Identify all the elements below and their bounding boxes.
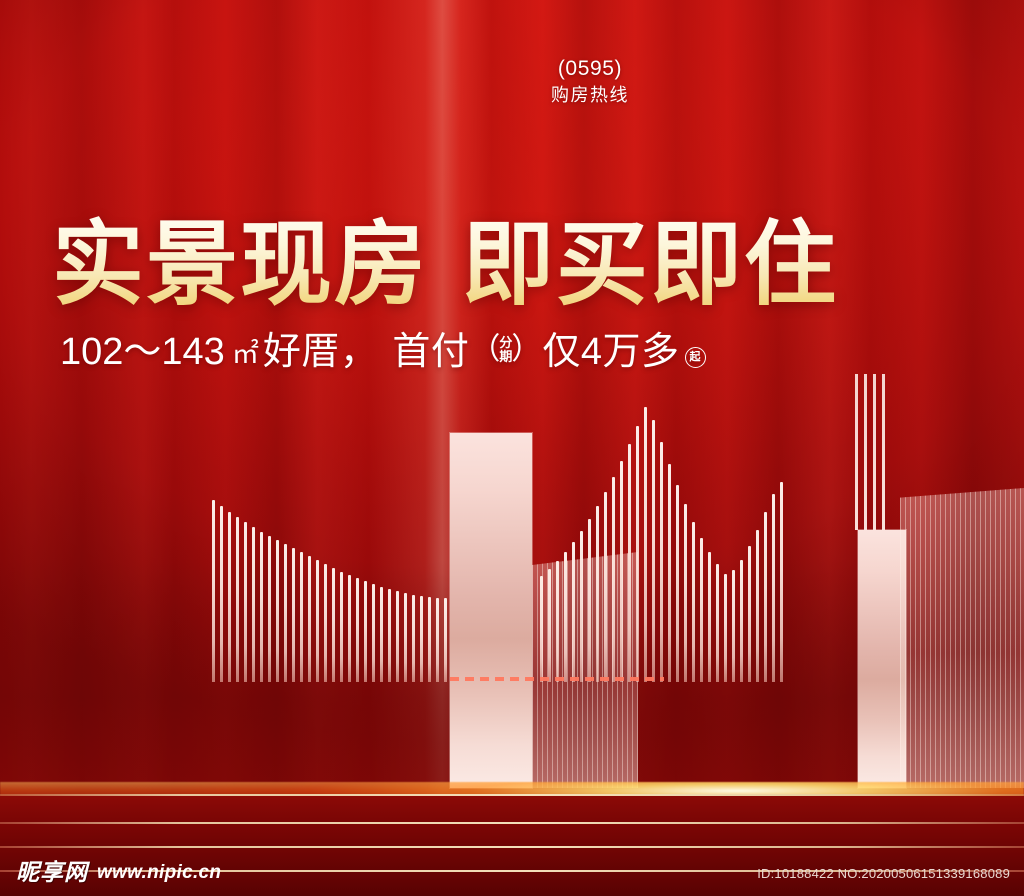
nipic-logo: 昵享网 [16, 861, 88, 884]
skyline-bar [324, 564, 327, 682]
floor-band-2 [0, 824, 1024, 846]
gold-rule-2 [0, 822, 1024, 824]
installment-paren-close: ） [511, 335, 541, 365]
skyline-bar [780, 482, 783, 682]
skyline-bar [668, 464, 671, 682]
skyline-bar [724, 574, 727, 682]
skyline-bar [716, 564, 719, 682]
skyline-bar [292, 548, 295, 682]
skyline-bar [412, 595, 415, 682]
skyline-bar [260, 532, 263, 682]
skyline-bar [644, 407, 647, 682]
skyline-bar [692, 522, 695, 682]
installment-paren-open: （ [470, 335, 500, 365]
skyline-bar [340, 572, 343, 682]
skyline-bar [276, 540, 279, 682]
skyline-bar [756, 530, 759, 682]
skyline-bar [364, 581, 367, 682]
skyline-bar [332, 568, 335, 682]
skyline-bar [748, 546, 751, 682]
skyline-bar [252, 527, 255, 682]
installment-note: （ 分 期 ） [470, 335, 541, 365]
skyline-bar [348, 575, 351, 682]
asset-id-text: ID:10188422 NO:20200506151339168089 [757, 866, 1010, 881]
skyline-bar [660, 442, 663, 682]
skyline-bar [300, 552, 303, 682]
skyline-bar [676, 485, 679, 682]
skyline-bar [420, 596, 423, 682]
skyline-bar [220, 506, 223, 682]
skyline-right-tower [858, 530, 906, 788]
skyline-bar [772, 494, 775, 682]
skyline-bar [244, 522, 247, 682]
headline-part-2: 即买即住 [462, 214, 838, 316]
skyline-bar [396, 591, 399, 682]
area-unit: ㎡ [232, 341, 259, 368]
skyline-bar [764, 512, 767, 682]
skyline-bar [388, 589, 391, 682]
headline-part-1: 实景现房 [52, 214, 428, 316]
gold-rule-3 [0, 846, 1024, 848]
skyline-bar [380, 587, 383, 682]
skyline-bar [228, 512, 231, 682]
skyline-bar [308, 556, 311, 682]
skyline-bar [732, 570, 735, 682]
watermark: 昵享网 www.nipic.cn [16, 861, 221, 884]
skyline-chart [0, 0, 1024, 790]
nipic-url-text: www.nipic.cn [97, 863, 221, 882]
skyline-bar [700, 538, 703, 682]
skyline-bar [316, 560, 319, 682]
skyline-center-right-slab [532, 552, 638, 788]
poster-canvas: (0595) 购房热线 实景现房即买即住 102～143 ㎡ 好厝 ， 首付 （… [0, 0, 1024, 896]
skyline-far-right-slab [900, 488, 1024, 788]
skyline-bar [428, 597, 431, 682]
quality-text: 好厝 [263, 333, 340, 371]
floor-band-1 [0, 796, 1024, 822]
skyline-bar [436, 598, 439, 682]
downpayment-amount: 仅4万多 [542, 333, 679, 371]
from-badge: 起 [685, 347, 706, 368]
skyline-bar [372, 584, 375, 682]
baseline-dash [450, 677, 664, 681]
skyline-bar [652, 420, 655, 682]
tower-antenna [873, 374, 876, 530]
skyline-bar [212, 500, 215, 682]
downpayment-label: 首付 [392, 333, 469, 371]
skyline-bar [236, 517, 239, 682]
skyline-bar [268, 536, 271, 682]
skyline-bar [740, 560, 743, 682]
page-title: 实景现房即买即住 [52, 214, 838, 317]
skyline-bar [444, 598, 447, 682]
tower-antenna [855, 374, 858, 530]
skyline-center-tower [450, 433, 532, 788]
tower-antenna [882, 374, 885, 530]
gold-rule-1 [0, 794, 1024, 796]
skyline-bar [708, 552, 711, 682]
skyline-bar [356, 578, 359, 682]
tower-antenna [864, 374, 867, 530]
subtitle-line: 102～143 ㎡ 好厝 ， 首付 （ 分 期 ） 仅4万多 起 [60, 333, 706, 371]
skyline-bar [684, 504, 687, 682]
skyline-bar [404, 593, 407, 682]
comma-glyph: ， [340, 333, 379, 371]
area-range: 102～143 [60, 333, 225, 371]
skyline-bar [284, 544, 287, 682]
